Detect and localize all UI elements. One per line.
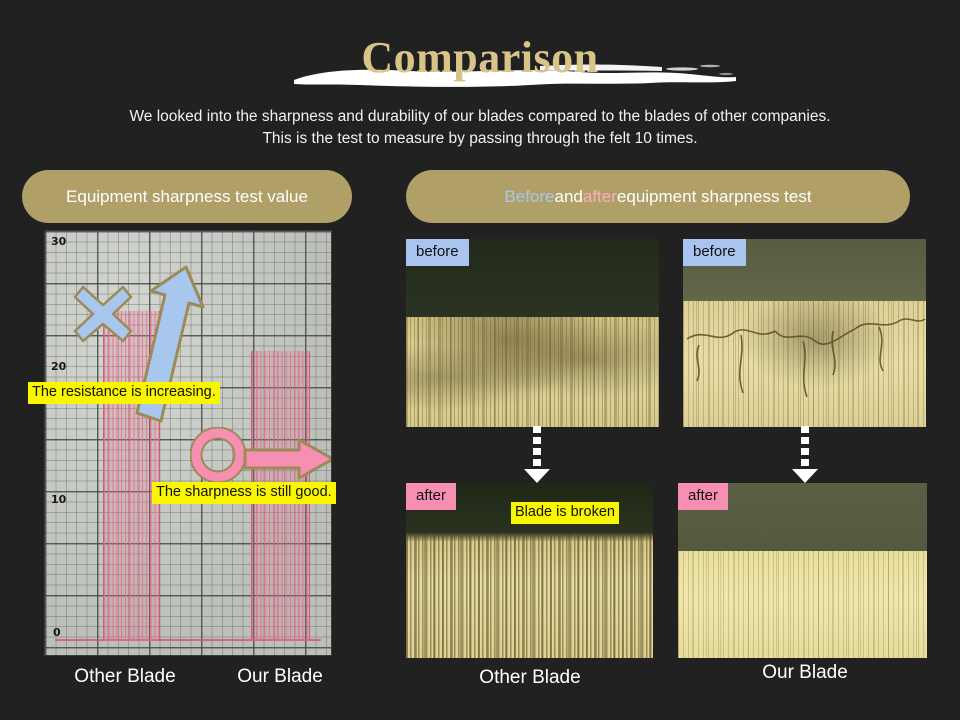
- section-header-right: Before and after equipment sharpness tes…: [406, 170, 910, 223]
- up-arrow-icon: [131, 261, 207, 431]
- subtitle-line-1: We looked into the sharpness and durabil…: [50, 106, 910, 128]
- annotation-sharpness-good: The sharpness is still good.: [152, 482, 336, 504]
- subtitle: We looked into the sharpness and durabil…: [50, 106, 910, 150]
- caption-left-other-blade: Other Blade: [45, 666, 205, 688]
- down-arrow-dotted-icon-left: [520, 426, 554, 484]
- caption-right-other-blade: Other Blade: [440, 667, 620, 689]
- micrograph-other-blade-before: before: [406, 239, 659, 427]
- down-arrow-dotted-icon-right: [788, 426, 822, 484]
- section-header-left-label: Equipment sharpness test value: [66, 187, 308, 207]
- micrograph-our-blade-before: before: [683, 239, 926, 427]
- micrograph-blade-edge-region: [406, 317, 659, 427]
- y-tick-30: 30: [51, 235, 66, 248]
- section-header-right-rest: equipment sharpness test: [617, 187, 812, 207]
- sharpness-chart-photo: 30 20 10 0: [45, 231, 331, 655]
- x-mark-icon: [73, 283, 133, 343]
- annotation-resistance-increasing: The resistance is increasing.: [28, 382, 220, 404]
- y-tick-10: 10: [51, 493, 66, 506]
- slide-root: Comparison We looked into the sharpness …: [0, 0, 960, 720]
- section-header-left: Equipment sharpness test value: [22, 170, 352, 223]
- annotation-blade-is-broken: Blade is broken: [511, 502, 619, 524]
- caption-left-our-blade: Our Blade: [200, 666, 360, 688]
- tag-before: before: [683, 239, 746, 266]
- y-tick-20: 20: [51, 360, 66, 373]
- section-header-right-after: after: [583, 187, 617, 207]
- micrograph-blade-edge-region: [678, 551, 927, 658]
- y-tick-0: 0: [53, 626, 61, 639]
- right-arrow-icon: [243, 437, 331, 481]
- page-title: Comparison: [0, 32, 960, 83]
- tag-after: after: [678, 483, 728, 510]
- tag-before: before: [406, 239, 469, 266]
- micrograph-our-blade-after: after: [678, 483, 927, 658]
- caption-right-our-blade: Our Blade: [715, 662, 895, 684]
- title-block: Comparison: [0, 18, 960, 90]
- section-header-right-before: Before: [504, 187, 554, 207]
- tag-after: after: [406, 483, 456, 510]
- subtitle-line-2: This is the test to measure by passing t…: [50, 128, 910, 150]
- section-header-right-and: and: [555, 187, 583, 207]
- micrograph-crack-lines: [683, 301, 926, 427]
- micrograph-blade-edge-region: [406, 533, 653, 658]
- circle-mark-icon: [190, 427, 246, 483]
